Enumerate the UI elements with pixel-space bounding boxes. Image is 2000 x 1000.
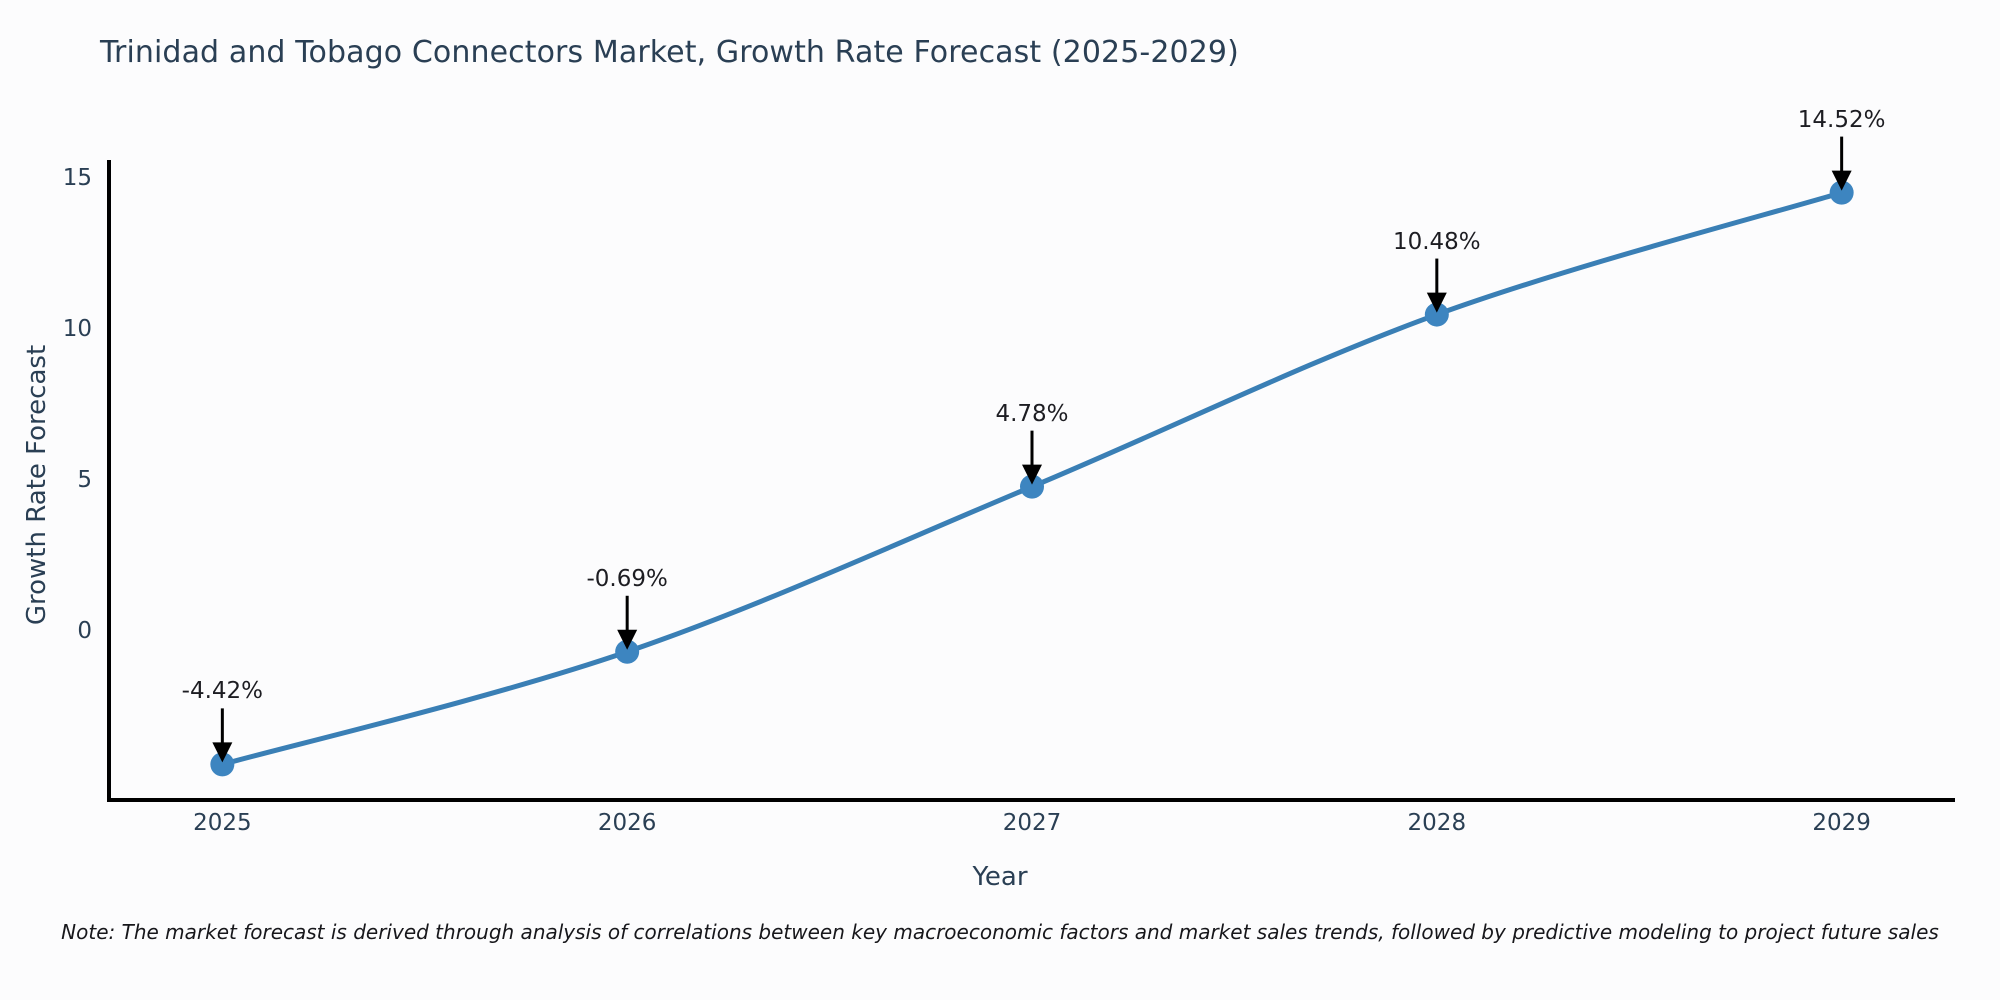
data-point-value-label: -0.69% [586, 566, 667, 592]
x-tick-label: 2026 [598, 810, 657, 836]
data-point-value-label: 14.52% [1798, 107, 1886, 133]
x-tick-label: 2029 [1812, 810, 1871, 836]
x-tick-label: 2025 [193, 810, 252, 836]
annotation-arrows [212, 137, 1851, 763]
x-tick-label: 2028 [1408, 810, 1467, 836]
y-tick-label: 10 [0, 316, 92, 342]
chart-container: Trinidad and Tobago Connectors Market, G… [0, 0, 2000, 1000]
plot-area [0, 0, 2000, 1000]
y-tick-label: 5 [0, 467, 92, 493]
y-tick-label: 0 [0, 618, 92, 644]
data-point-value-label: 10.48% [1393, 229, 1481, 255]
data-point-value-label: 4.78% [995, 401, 1068, 427]
data-point-value-label: -4.42% [182, 678, 263, 704]
x-tick-label: 2027 [1003, 810, 1062, 836]
y-tick-label: 15 [0, 165, 92, 191]
chart-note: Note: The market forecast is derived thr… [0, 920, 2000, 944]
